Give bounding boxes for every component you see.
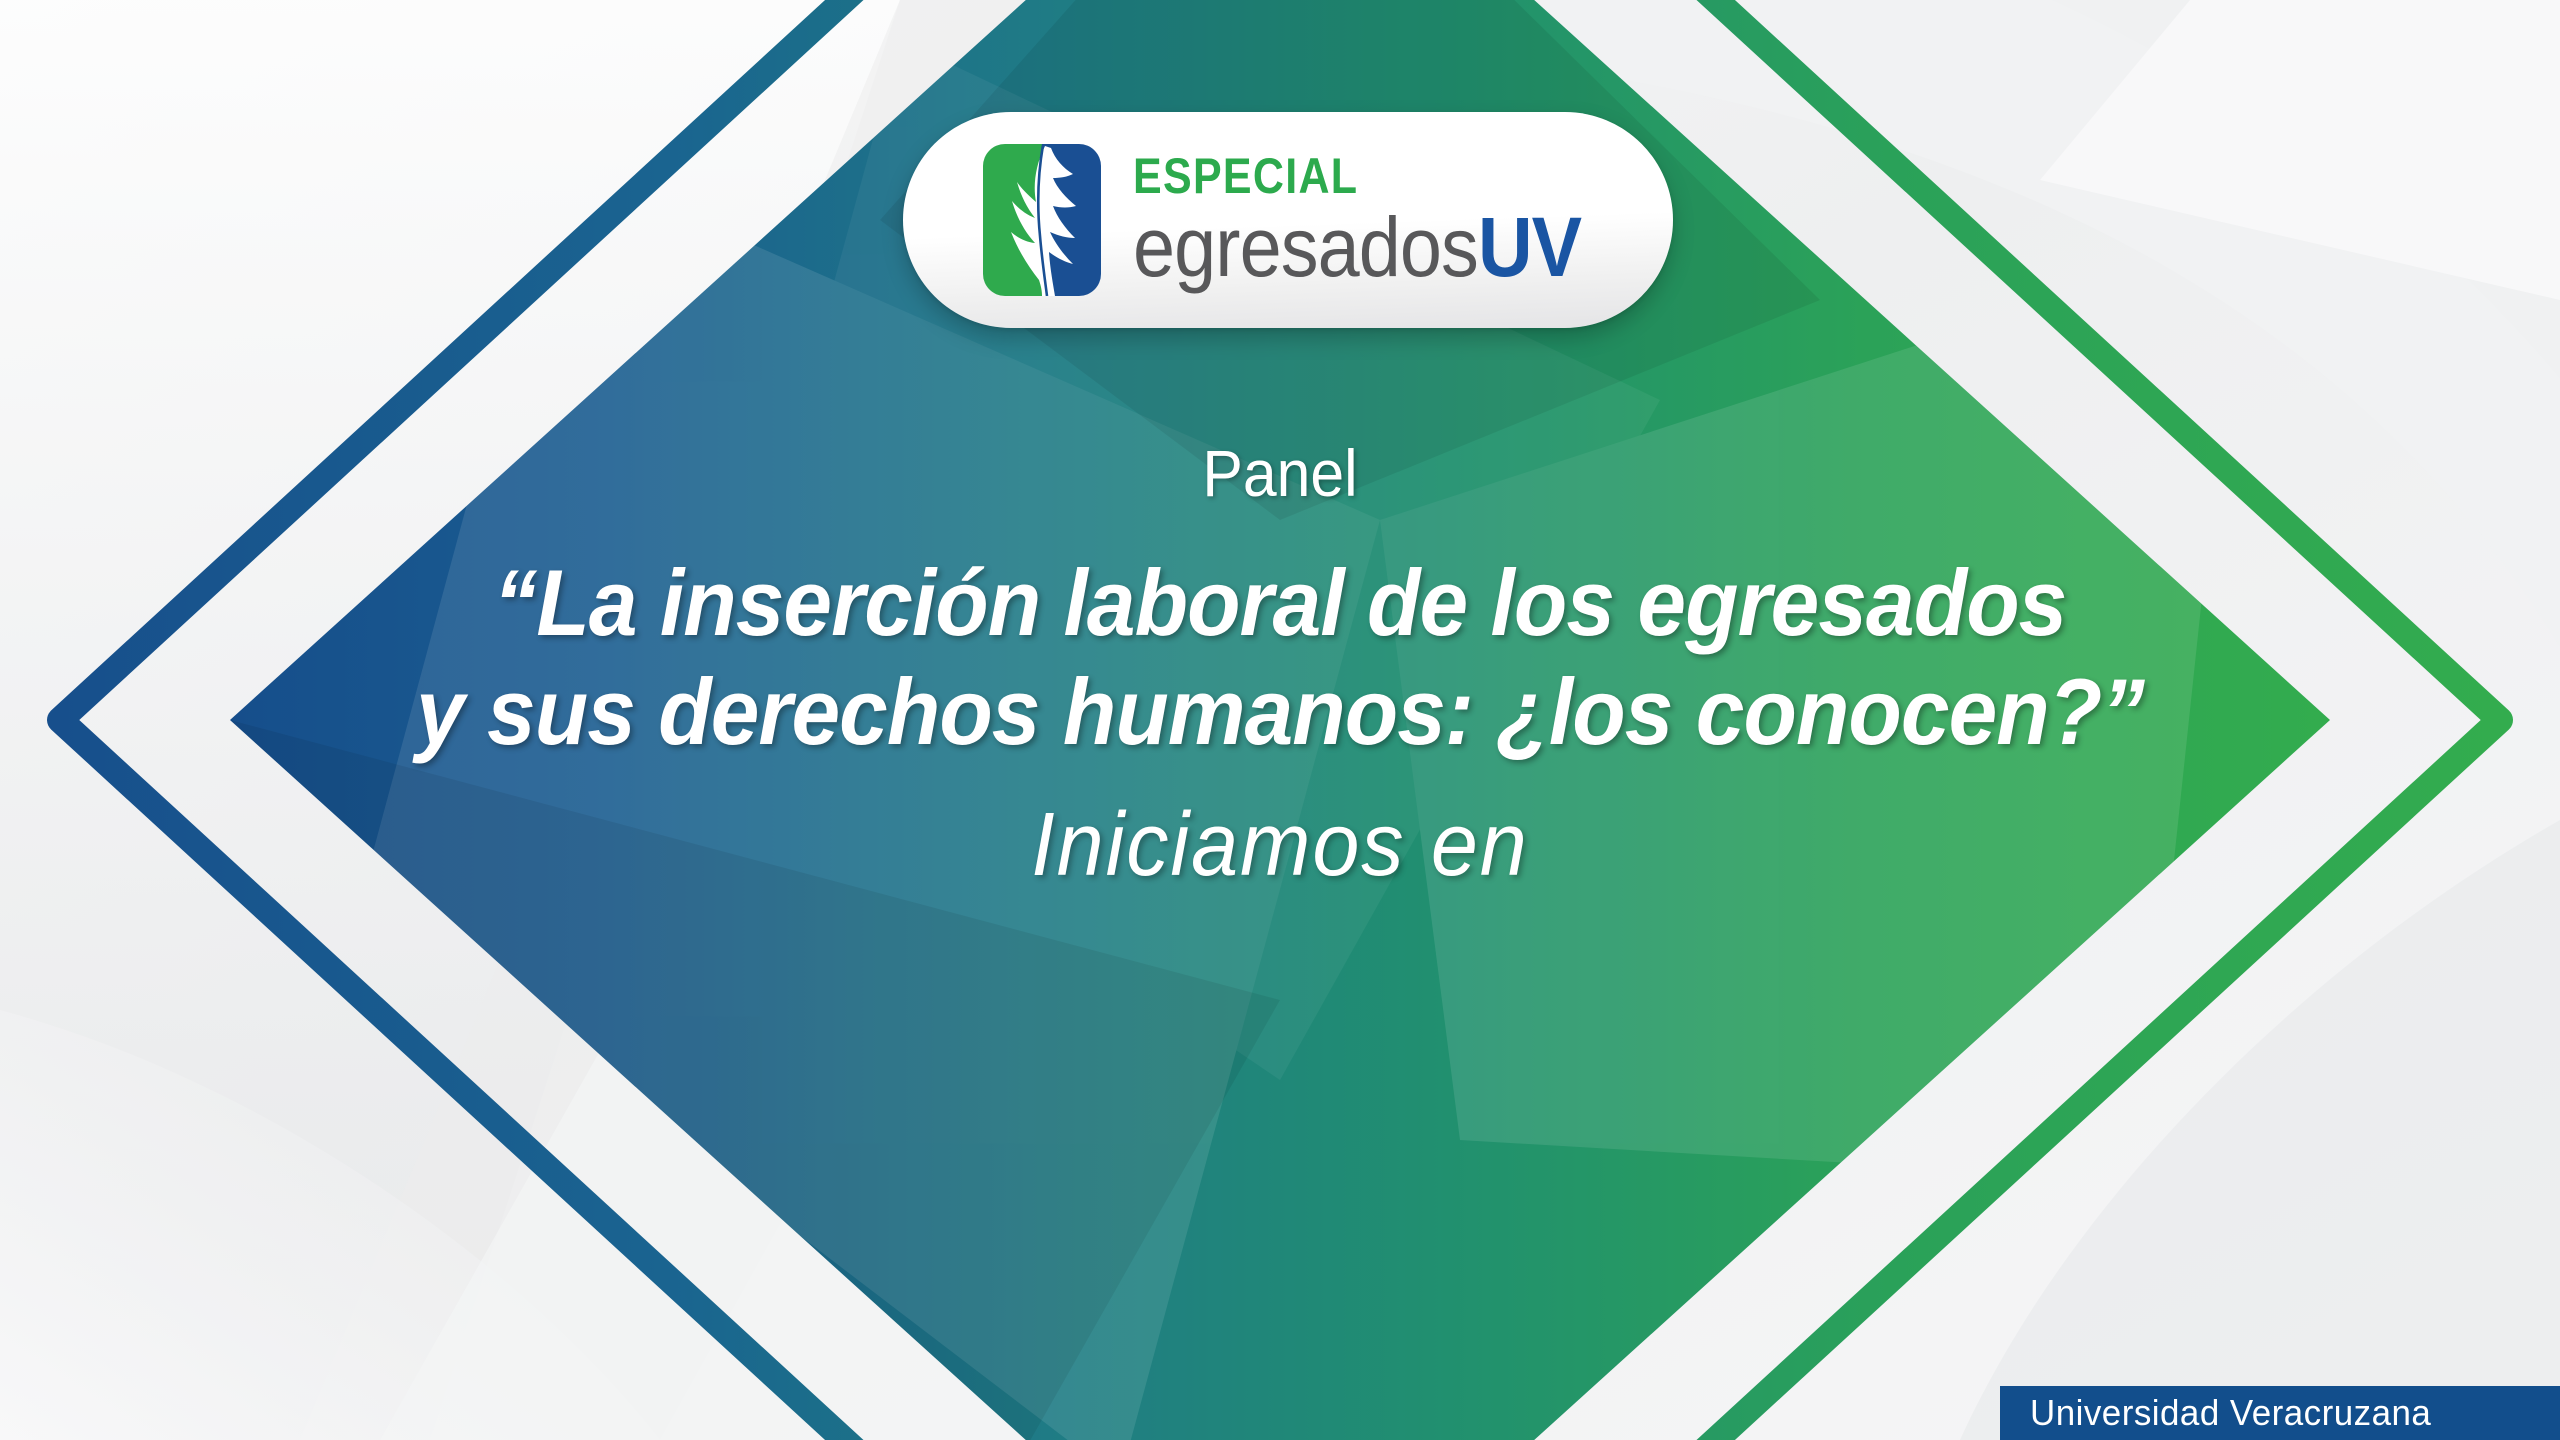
page-title-line-2: y sus derechos humanos: ¿los conocen?” <box>90 657 2471 766</box>
uv-feather-icon <box>983 144 1101 296</box>
logo-egresados-uv-text: egresadosUV <box>1133 205 1581 289</box>
logo-uv-word: UV <box>1478 200 1581 294</box>
logo-especial-text: ESPECIAL <box>1133 151 1561 201</box>
institution-name: Universidad Veracruzana <box>2030 1392 2431 1434</box>
title-block: Panel “La inserción laboral de los egres… <box>0 440 2560 890</box>
page-title: “La inserción laboral de los egresados y… <box>90 548 2471 766</box>
institution-banner: Universidad Veracruzana <box>2000 1386 2560 1440</box>
logo-wordmark: ESPECIAL egresadosUV <box>1133 151 1631 289</box>
event-kicker: Panel <box>102 440 2457 506</box>
page-title-line-1: “La inserción laboral de los egresados <box>90 548 2471 657</box>
logo-egresados-word: egresados <box>1133 200 1478 294</box>
logo-badge: ESPECIAL egresadosUV <box>903 112 1673 328</box>
start-time-label: Iniciamos en <box>77 800 2483 890</box>
